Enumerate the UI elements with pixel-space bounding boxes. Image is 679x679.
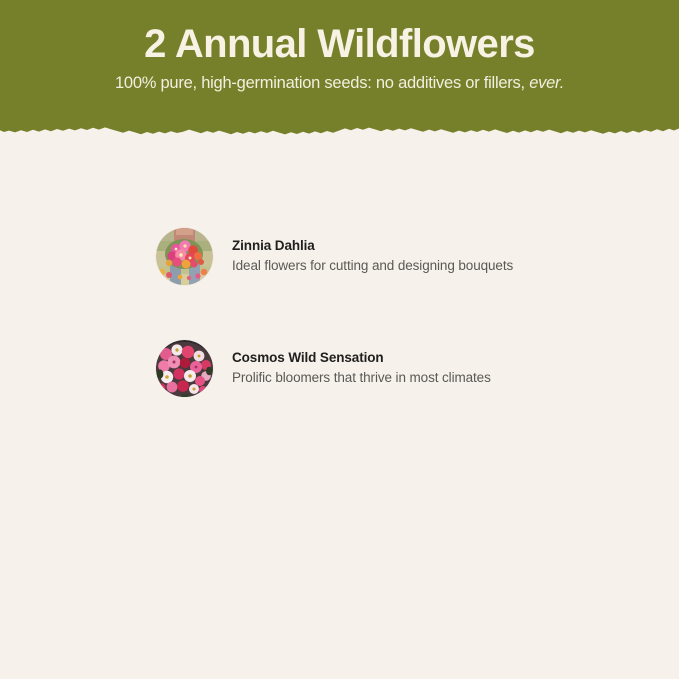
feature-text: Zinnia Dahlia Ideal flowers for cutting … [213, 237, 626, 275]
zinnia-bouquet-photo-icon [156, 228, 213, 285]
header-banner: 2 Annual Wildflowers 100% pure, high-ger… [0, 0, 679, 142]
feature-list: Zinnia Dahlia Ideal flowers for cutting … [156, 216, 626, 440]
feature-description: Prolific bloomers that thrive in most cl… [232, 369, 626, 387]
torn-paper-edge-icon [0, 0, 679, 142]
cosmos-flowers-photo-icon [156, 340, 213, 397]
list-item: Zinnia Dahlia Ideal flowers for cutting … [156, 216, 626, 296]
feature-text: Cosmos Wild Sensation Prolific bloomers … [213, 349, 626, 387]
feature-description: Ideal flowers for cutting and designing … [232, 257, 626, 275]
feature-name: Zinnia Dahlia [232, 237, 626, 255]
feature-name: Cosmos Wild Sensation [232, 349, 626, 367]
list-item: Cosmos Wild Sensation Prolific bloomers … [156, 328, 626, 408]
